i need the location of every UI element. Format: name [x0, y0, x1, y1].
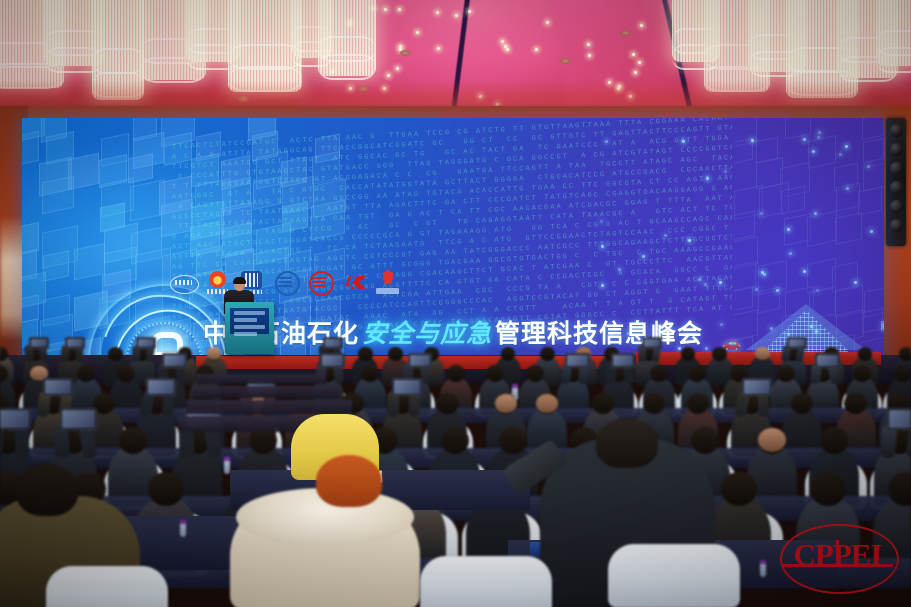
- particle-dot: [755, 288, 758, 291]
- ceiling-downlight: [400, 50, 411, 56]
- water-bottle-right: [760, 560, 766, 577]
- particle-dot: [642, 255, 645, 258]
- audience-head: [358, 347, 373, 361]
- bottle-cap: [512, 384, 518, 388]
- aisle-step: [192, 386, 340, 398]
- smartphone: [0, 408, 31, 430]
- particle-dot: [751, 139, 754, 142]
- audience-head-light: [495, 394, 517, 413]
- ceiling-spot: [632, 53, 635, 56]
- mosaic-cube: [42, 176, 74, 215]
- smartphone: [565, 353, 589, 368]
- logo-sinochem-icon: [306, 270, 333, 297]
- phone-screen: [644, 339, 660, 347]
- aisle-step: [196, 374, 326, 384]
- audience-head: [388, 347, 403, 361]
- audience-head: [820, 427, 848, 454]
- phone-screen: [62, 410, 95, 428]
- smartphone: [611, 353, 635, 368]
- mosaic-cube: [43, 250, 69, 281]
- audience-head-foreground-right: [596, 418, 658, 468]
- audience-head: [691, 427, 719, 454]
- logo-petro-flower-icon: [374, 270, 401, 297]
- mosaic-cube: [734, 210, 756, 241]
- audience-head: [712, 347, 727, 361]
- ceiling-spot: [437, 47, 440, 50]
- particle-dot: [818, 131, 821, 134]
- particle-dot: [867, 165, 870, 168]
- audience-head: [436, 393, 458, 415]
- phone-screen: [31, 339, 47, 347]
- audience-head: [148, 472, 184, 506]
- mosaic-cube: [781, 185, 805, 214]
- audience-head: [810, 472, 846, 506]
- audience-head: [721, 472, 757, 506]
- smartphone: [162, 353, 186, 368]
- audience-head: [540, 347, 555, 361]
- particle-dot: [814, 212, 817, 215]
- audience-head: [77, 365, 95, 382]
- smartphone: [642, 337, 662, 349]
- phone-screen: [817, 355, 837, 366]
- smartphone: [136, 337, 156, 349]
- phone-screen: [613, 355, 633, 366]
- bottle-cap: [224, 457, 230, 461]
- phone-screen: [148, 380, 174, 394]
- speaker-array: [886, 118, 906, 246]
- audience-head: [844, 393, 866, 415]
- chandelier: [318, 0, 376, 76]
- phone-screen: [789, 339, 805, 347]
- chandelier-wave: [318, 54, 376, 80]
- phone-screen: [325, 339, 341, 347]
- mosaic-cube: [734, 138, 753, 165]
- audience-red-hair: [316, 455, 382, 507]
- audience-head-light: [755, 347, 770, 359]
- audience-head-light: [758, 428, 786, 452]
- logo-shaanxi-yanchang-icon: [340, 270, 367, 297]
- chair-front-mid: [420, 556, 552, 607]
- mosaic-cube: [858, 186, 882, 215]
- audience-head: [501, 347, 516, 361]
- phone-screen: [0, 410, 29, 428]
- audience-head: [853, 365, 871, 382]
- smartphone: [60, 408, 97, 430]
- chandelier-wave: [92, 48, 144, 74]
- smartphone: [887, 408, 911, 430]
- phone-screen: [889, 410, 911, 428]
- audience-head: [899, 347, 911, 361]
- chair-front-left: [46, 566, 168, 607]
- ceiling-spot: [504, 45, 507, 48]
- ceiling-spot: [436, 11, 439, 14]
- audience-head: [108, 347, 123, 361]
- smartphone: [787, 337, 807, 349]
- mosaic-cube: [862, 118, 884, 140]
- ceiling-downlight: [560, 58, 571, 64]
- smartphone: [29, 337, 49, 349]
- audience-head: [119, 427, 147, 454]
- phone-screen: [45, 380, 71, 394]
- smartphone: [320, 353, 344, 368]
- phone-screen: [410, 355, 430, 366]
- ceiling-downlight: [620, 30, 631, 36]
- water-bottle-left: [180, 520, 186, 537]
- conference-photo: TTCACTCTATCCGATGC ACTC TTA AAC G TTGAA T…: [0, 0, 911, 607]
- smartphone: [392, 378, 422, 396]
- ceiling-spot: [455, 14, 458, 17]
- particle-dot: [760, 212, 763, 215]
- audience-head: [447, 365, 465, 382]
- audience-head: [117, 365, 135, 382]
- mosaic-cube: [807, 211, 837, 247]
- audience-head: [777, 365, 795, 382]
- smartphone: [146, 378, 176, 396]
- audience-head-foreground-left: [16, 464, 78, 516]
- speaker-hair: [233, 277, 246, 284]
- ceiling-spot: [535, 48, 538, 51]
- phone-screen: [67, 339, 83, 347]
- smartphone: [408, 353, 432, 368]
- aisle-step: [186, 400, 352, 414]
- ceiling-spot: [506, 48, 509, 51]
- phone-screen: [138, 339, 154, 347]
- audience-head: [894, 365, 911, 382]
- smartphone: [323, 337, 343, 349]
- cppei-watermark: CPPEI: [780, 524, 895, 590]
- ceiling-spot: [387, 74, 390, 77]
- particle-dot: [682, 140, 685, 143]
- phone-screen: [394, 380, 420, 394]
- phone-screen: [567, 355, 587, 366]
- ceiling: [0, 0, 911, 120]
- mosaic-cube: [22, 131, 40, 168]
- smartphone: [65, 337, 85, 349]
- smartphone: [815, 353, 839, 368]
- audience-head: [688, 365, 706, 382]
- mosaic-cube: [785, 118, 811, 140]
- phone-screen: [322, 355, 342, 366]
- audience-head: [526, 365, 544, 382]
- mosaic-cube: [835, 213, 862, 246]
- audience-head: [486, 365, 504, 382]
- phone-screen: [164, 355, 184, 366]
- logo-cnooc-icon: [272, 270, 299, 297]
- ceiling-spot: [398, 8, 401, 11]
- audience-head-light: [207, 347, 222, 359]
- smartphone: [43, 378, 73, 396]
- audience-head: [858, 347, 873, 361]
- phone-screen: [744, 380, 770, 394]
- chandelier-wave: [876, 47, 911, 73]
- led-screen: TTCACTCTATCCGATGC ACTC TTA AAC G TTGAA T…: [22, 118, 884, 358]
- particle-dot: [618, 268, 621, 271]
- ceiling-spot: [587, 43, 590, 46]
- particle-dot: [845, 145, 848, 148]
- chandelier: [228, 0, 302, 92]
- audience-head: [361, 365, 379, 382]
- particle-dot: [787, 228, 790, 231]
- smartphone: [742, 378, 772, 396]
- watermark-text: CPPEI: [780, 537, 895, 573]
- chandelier: [876, 0, 911, 66]
- sponsor-logo-row: [170, 270, 401, 297]
- mosaic-cube: [863, 137, 884, 162]
- chair-front-right: [608, 544, 740, 607]
- logo-oval-blue-icon: [170, 270, 197, 297]
- audience-head: [681, 347, 696, 361]
